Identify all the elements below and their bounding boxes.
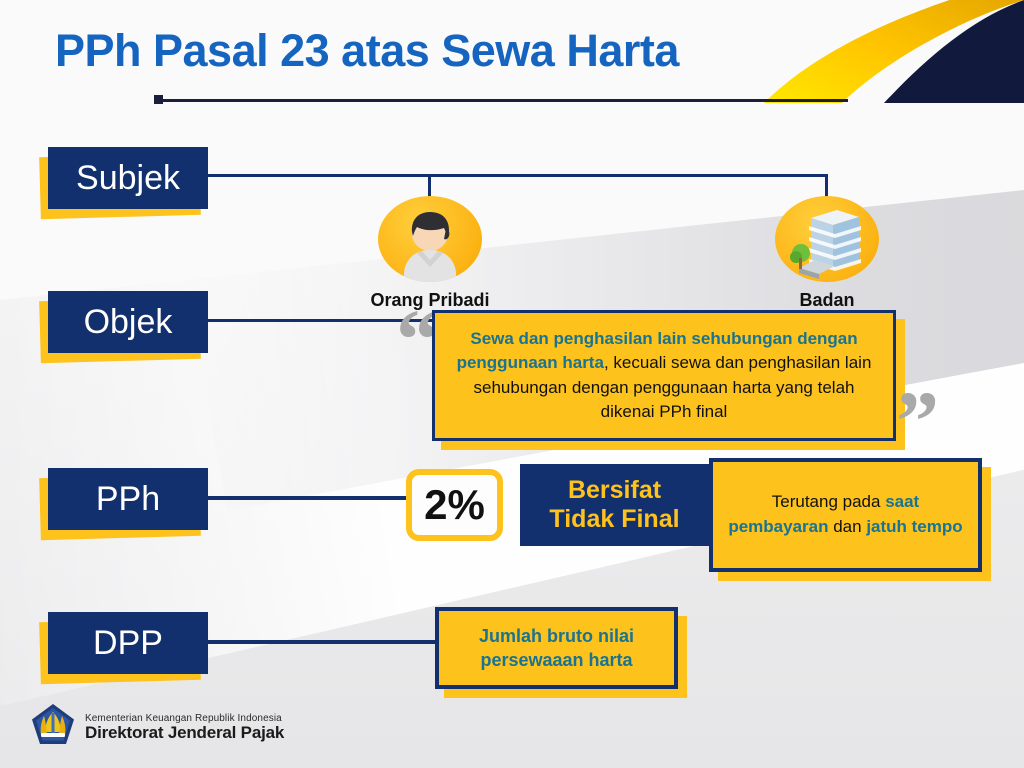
objek-quote-text: Sewa dan penghasilan lain sehubungan den… — [451, 327, 877, 424]
slide-canvas: PPh Pasal 23 atas Sewa Harta Subjek Obje… — [0, 0, 1024, 768]
pph-rate-badge: 2% — [406, 469, 503, 541]
objek-quote-box: Sewa dan penghasilan lain sehubungan den… — [432, 310, 896, 441]
row-label-objek-text: Objek — [48, 291, 208, 353]
pph-nature-line2: Tidak Final — [549, 505, 679, 535]
building-icon — [775, 196, 879, 282]
row-label-subjek-text: Subjek — [48, 147, 208, 209]
row-label-dpp-text: DPP — [48, 612, 208, 674]
page-title: PPh Pasal 23 atas Sewa Harta — [55, 25, 679, 77]
djp-emblem-icon — [30, 702, 76, 753]
person-icon — [378, 196, 482, 282]
row-label-pph-text: PPh — [48, 468, 208, 530]
row-label-objek[interactable]: Objek — [48, 291, 208, 353]
row-label-subjek[interactable]: Subjek — [48, 147, 208, 209]
subject-badan[interactable]: Badan — [747, 196, 907, 311]
dpp-line1: Jumlah bruto nilai — [479, 626, 634, 646]
quote-close-icon: ” — [896, 378, 939, 464]
connector-subjek-horizontal — [208, 174, 828, 177]
terutang-prefix: Terutang pada — [772, 492, 885, 511]
row-label-dpp[interactable]: DPP — [48, 612, 208, 674]
terutang-highlight-2: jatuh tempo — [866, 517, 962, 536]
subject-caption: Badan — [747, 290, 907, 311]
dpp-line2: persewaaan harta — [480, 650, 632, 670]
corner-swoosh-decoration — [724, 0, 1024, 108]
pph-nature-box: Bersifat Tidak Final — [520, 464, 709, 546]
dpp-value-box: Jumlah bruto nilai persewaaan harta — [435, 607, 678, 689]
pph-terutang-box: Terutang pada saat pembayaran dan jatuh … — [709, 458, 982, 572]
dpp-text: Jumlah bruto nilai persewaaan harta — [479, 624, 634, 673]
title-rule — [158, 99, 848, 102]
pph-nature-line1: Bersifat — [568, 476, 661, 506]
terutang-mid: dan — [829, 517, 867, 536]
footer-ministry: Kementerian Keuangan Republik Indonesia — [85, 713, 284, 724]
row-label-pph[interactable]: PPh — [48, 468, 208, 530]
pph-terutang-text: Terutang pada saat pembayaran dan jatuh … — [727, 490, 964, 539]
footer-directorate: Direktorat Jenderal Pajak — [85, 724, 284, 743]
footer-branding: Kementerian Keuangan Republik Indonesia … — [30, 702, 284, 753]
connector-dpp — [208, 640, 438, 644]
connector-pph — [208, 496, 408, 500]
